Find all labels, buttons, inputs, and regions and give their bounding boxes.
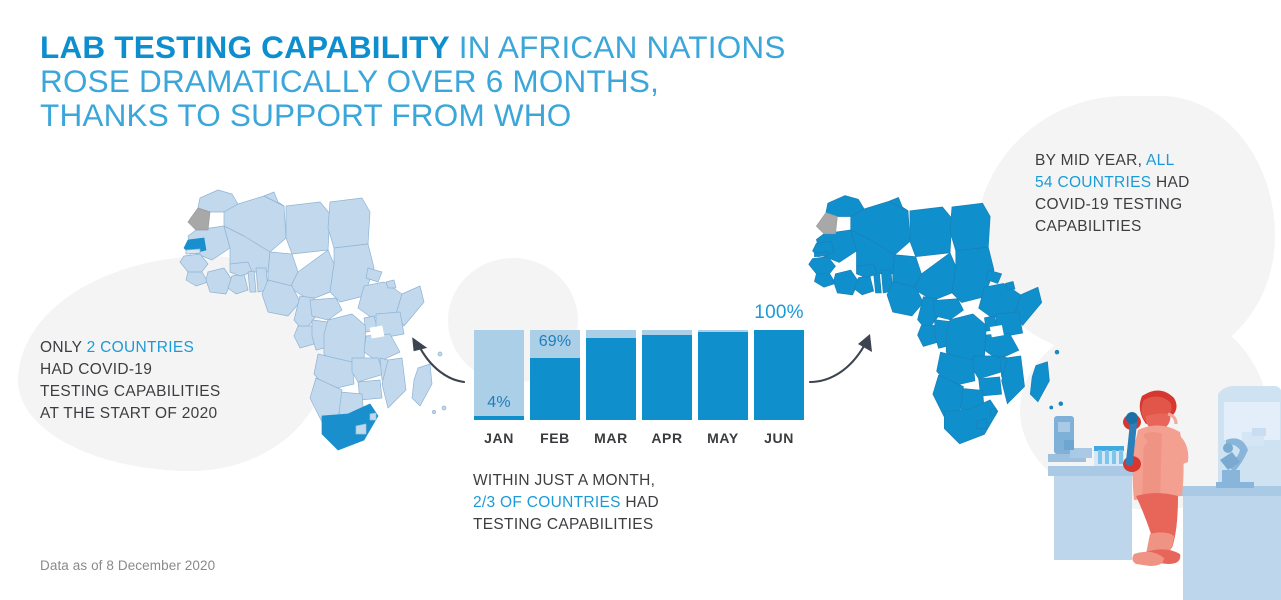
- caption-chart-highlight: 2/3 OF COUNTRIES: [473, 494, 621, 511]
- bar-track-mar: [586, 330, 636, 420]
- x-label-apr: APR: [642, 430, 692, 446]
- bar-column-jan: 4%: [474, 330, 524, 420]
- caption-left-line-1: ONLY 2 COUNTRIES: [40, 337, 221, 359]
- bar-column-apr: [642, 330, 692, 420]
- bar-fill-jun: [754, 330, 804, 420]
- caption-right-line-3: COVID-19 TESTING: [1035, 194, 1190, 216]
- bar-column-may: [698, 330, 748, 420]
- bar-column-mar: [586, 330, 636, 420]
- bar-fill-may: [698, 332, 748, 420]
- title-line-1: LAB TESTING CAPABILITY IN AFRICAN NATION…: [40, 30, 786, 64]
- caption-right-line-4: CAPABILITIES: [1035, 216, 1190, 238]
- x-label-feb: FEB: [530, 430, 580, 446]
- bar-track-jan: 4%: [474, 330, 524, 420]
- caption-chart-line-3: TESTING CAPABILITIES: [473, 514, 659, 536]
- x-label-jan: JAN: [474, 430, 524, 446]
- bar-column-jun: 100%: [754, 330, 804, 420]
- lab-bench-right: [1178, 486, 1281, 600]
- bar-track-apr: [642, 330, 692, 420]
- data-source-footnote: Data as of 8 December 2020: [40, 558, 215, 573]
- caption-right-line-2: 54 COUNTRIES HAD: [1035, 172, 1190, 194]
- x-label-may: MAY: [698, 430, 748, 446]
- bar-value-jan: 4%: [474, 394, 524, 412]
- lab-analyzer-icon: [1048, 416, 1092, 462]
- lab-bench-left: [1048, 466, 1138, 560]
- arrow-to-left-map-icon: [396, 322, 476, 392]
- caption-midyear: BY MID YEAR, ALL 54 COUNTRIES HAD COVID-…: [1035, 150, 1190, 238]
- caption-left-line-4: AT THE START OF 2020: [40, 403, 221, 425]
- bar-fill-feb: [530, 358, 580, 420]
- caption-left-line-2: HAD COVID-19: [40, 359, 221, 381]
- caption-left-prefix: ONLY: [40, 339, 87, 356]
- title-line-2: ROSE DRAMATICALLY OVER 6 MONTHS,: [40, 64, 786, 98]
- x-label-mar: MAR: [586, 430, 636, 446]
- caption-chart-line-2: 2/3 OF COUNTRIES HAD: [473, 492, 659, 514]
- title-line-1-rest: IN AFRICAN NATIONS: [450, 29, 786, 65]
- caption-left-line-3: TESTING CAPABILITIES: [40, 381, 221, 403]
- x-label-jun: JUN: [754, 430, 804, 446]
- bar-fill-mar: [586, 338, 636, 420]
- testing-capability-bar-chart: 4% 69%: [474, 330, 804, 446]
- bar-track-may: [698, 330, 748, 420]
- title-line-3: THANKS TO SUPPORT FROM WHO: [40, 98, 786, 132]
- bar-track-jun: 100%: [754, 330, 804, 420]
- technician-figure: [1123, 390, 1188, 566]
- bar-value-jun: 100%: [754, 302, 804, 324]
- test-tube-rack-icon: [1094, 446, 1124, 466]
- caption-chart: WITHIN JUST A MONTH, 2/3 OF COUNTRIES HA…: [473, 470, 659, 536]
- caption-right-prefix: BY MID YEAR,: [1035, 152, 1146, 169]
- caption-right-line-1: BY MID YEAR, ALL: [1035, 150, 1190, 172]
- caption-january: ONLY 2 COUNTRIES HAD COVID-19 TESTING CA…: [40, 337, 221, 425]
- caption-right-highlight-54: 54 COUNTRIES: [1035, 174, 1151, 191]
- bar-value-feb: 69%: [530, 333, 580, 351]
- caption-left-highlight: 2 COUNTRIES: [87, 339, 195, 356]
- caption-chart-line-2-rest: HAD: [621, 494, 659, 511]
- bar-fill-jan: [474, 416, 524, 420]
- bar-column-feb: 69%: [530, 330, 580, 420]
- bar-track-feb: 69%: [530, 330, 580, 420]
- page-title: LAB TESTING CAPABILITY IN AFRICAN NATION…: [40, 30, 786, 132]
- arrow-to-right-map-icon: [806, 320, 896, 392]
- caption-right-line-2-rest: HAD: [1151, 174, 1189, 191]
- title-emphasis: LAB TESTING CAPABILITY: [40, 29, 450, 65]
- lab-technician-illustration: [1020, 378, 1281, 600]
- caption-chart-line-1: WITHIN JUST A MONTH,: [473, 470, 659, 492]
- infographic-canvas: LAB TESTING CAPABILITY IN AFRICAN NATION…: [0, 0, 1281, 600]
- bar-chart-bars: 4% 69%: [474, 330, 804, 420]
- caption-right-highlight-all: ALL: [1146, 152, 1174, 169]
- bar-chart-x-axis-labels: JAN FEB MAR APR MAY JUN: [474, 430, 804, 446]
- bar-fill-apr: [642, 335, 692, 420]
